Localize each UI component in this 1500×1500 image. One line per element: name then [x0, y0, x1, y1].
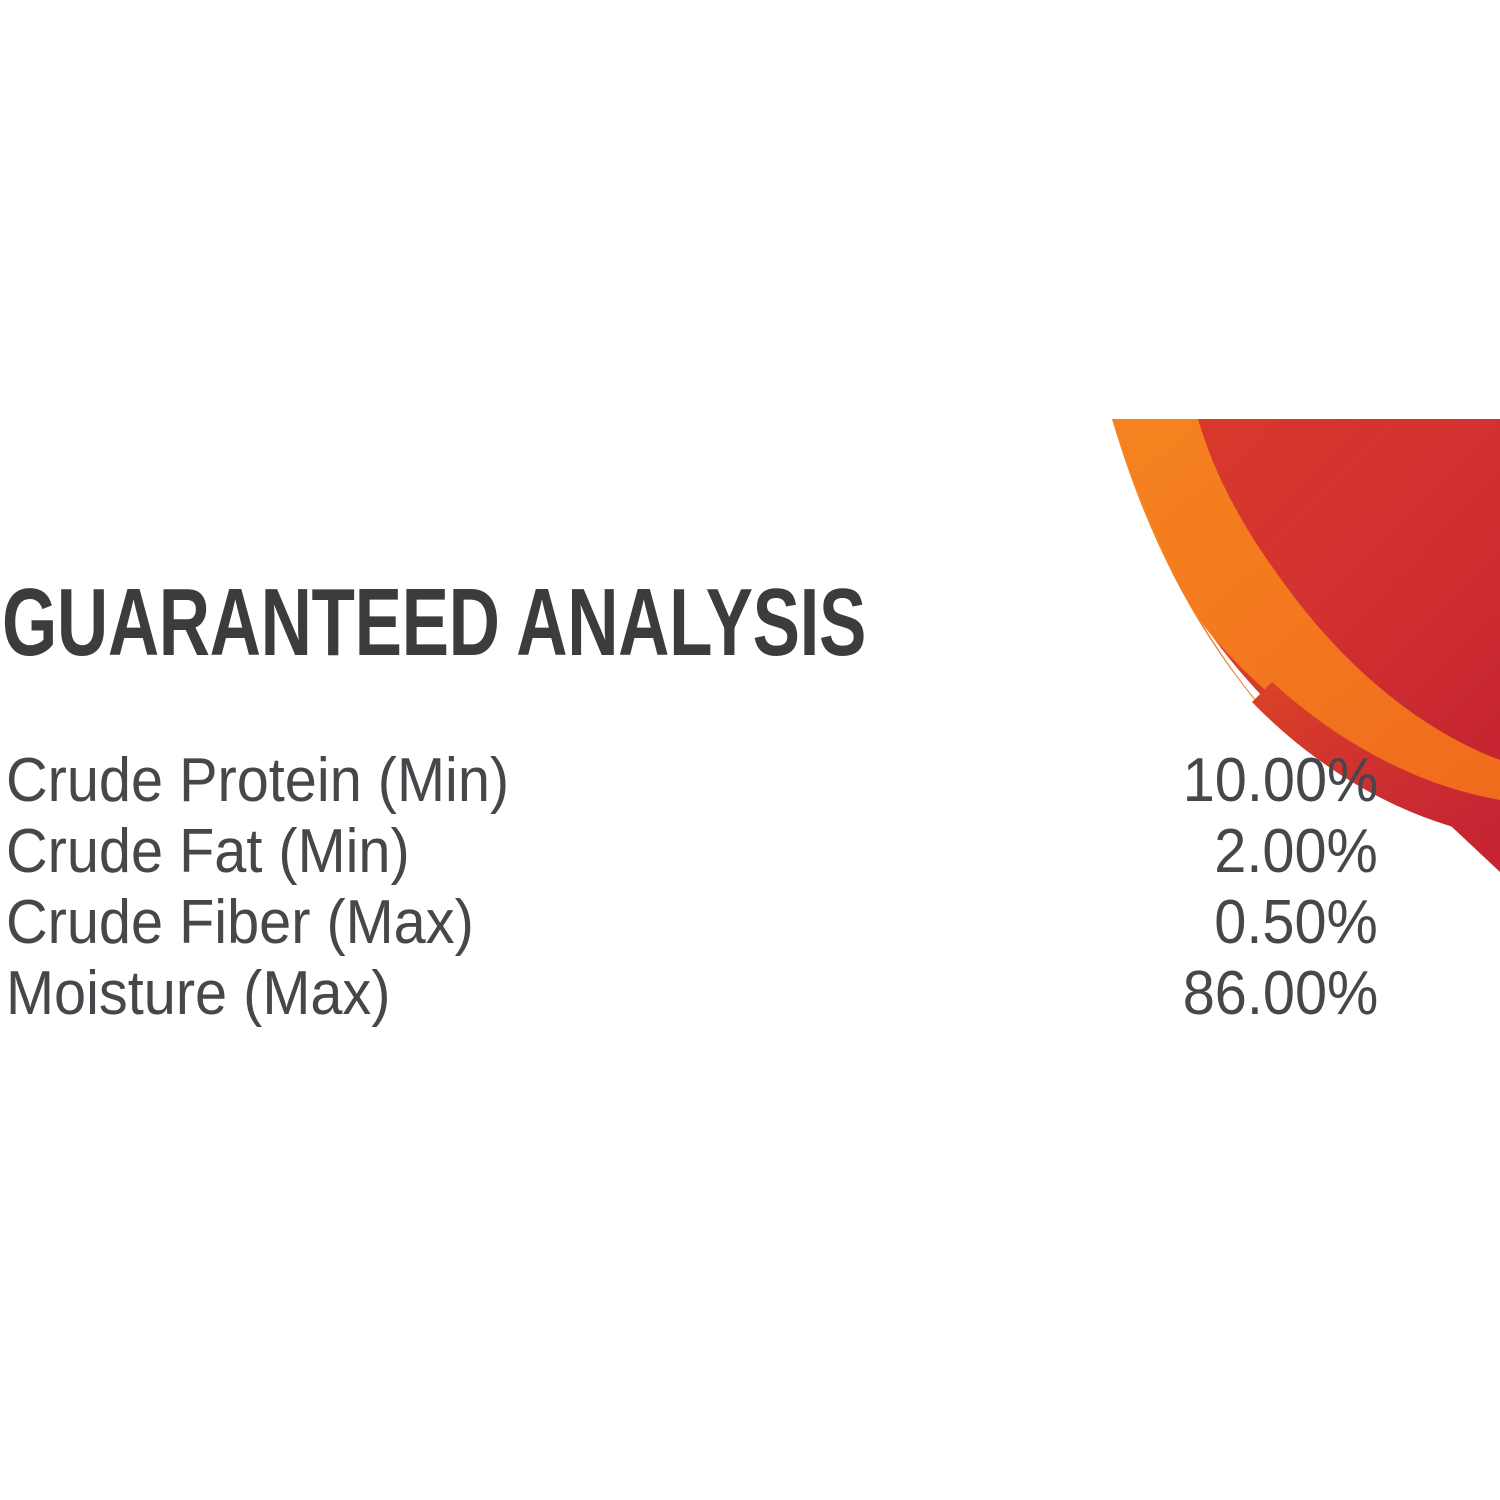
guaranteed-analysis-panel: GUARANTEED ANALYSIS Crude Protein (Min) …	[0, 0, 1500, 1500]
table-row: Crude Protein (Min) 10.00%	[6, 748, 1378, 819]
nutrient-value-crude-protein: 10.00%	[1182, 748, 1378, 814]
heading-block: GUARANTEED ANALYSIS	[2, 575, 1102, 671]
nutrient-value-crude-fiber: 0.50%	[1214, 890, 1378, 956]
nutrient-label-crude-fat: Crude Fat (Min)	[6, 819, 410, 885]
nutrient-label-crude-protein: Crude Protein (Min)	[6, 748, 509, 814]
nutrient-label-moisture: Moisture (Max)	[6, 961, 390, 1027]
nutrient-label-crude-fiber: Crude Fiber (Max)	[6, 890, 474, 956]
table-row: Crude Fiber (Max) 0.50%	[6, 890, 1378, 961]
nutrient-value-crude-fat: 2.00%	[1214, 819, 1378, 885]
table-row: Moisture (Max) 86.00%	[6, 961, 1378, 1032]
table-row: Crude Fat (Min) 2.00%	[6, 819, 1378, 890]
page-title: GUARANTEED ANALYSIS	[2, 575, 816, 671]
nutrient-value-moisture: 86.00%	[1182, 961, 1378, 1027]
analysis-table: Crude Protein (Min) 10.00% Crude Fat (Mi…	[6, 748, 1378, 1032]
